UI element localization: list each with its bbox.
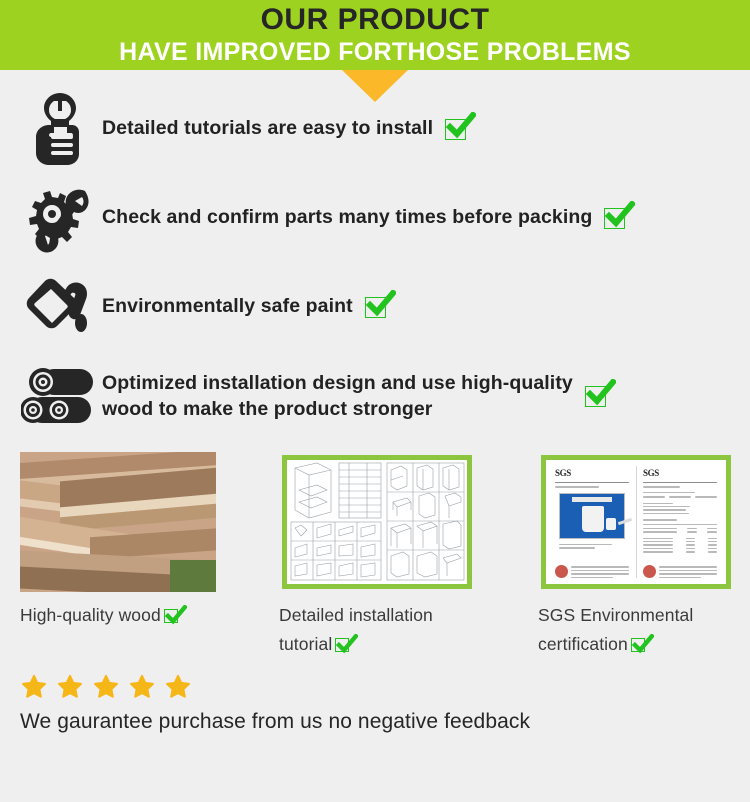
gear-wrench-icon	[18, 183, 102, 253]
checkmark-icon	[604, 206, 627, 229]
guarantee-text: We gaurantee purchase from us no negativ…	[20, 705, 750, 739]
feature-text-2: Check and confirm parts many times befor…	[102, 205, 627, 230]
caption-text-2-line1: Detailed installation	[279, 605, 433, 625]
checkmark-icon	[585, 384, 608, 407]
hand-wrench-icon	[18, 91, 102, 167]
card-caption-1: High-quality wood	[20, 601, 216, 630]
guarantee-section: We gaurantee purchase from us no negativ…	[0, 659, 750, 739]
feature-list: Detailed tutorials are easy to install C…	[0, 70, 750, 440]
header-banner: OUR PRODUCT HAVE IMPROVED FORTHOSE PROBL…	[0, 0, 750, 70]
card-gallery: High-quality wood	[0, 440, 750, 659]
feature-label-4-line1: Optimized installation design and use hi…	[102, 372, 573, 394]
feature-label-4-line2: wood to make the product stronger	[102, 398, 433, 420]
checkmark-icon	[631, 637, 648, 652]
seal-icon	[643, 565, 656, 578]
star-rating	[20, 673, 750, 701]
star-icon	[92, 673, 120, 701]
product-feature-graphic: OUR PRODUCT HAVE IMPROVED FORTHOSE PROBL…	[0, 0, 750, 802]
sgs-test-report-photo: SGS	[538, 452, 734, 592]
caption-text-1: High-quality wood	[20, 605, 161, 625]
star-icon	[164, 673, 192, 701]
wood-logs-icon	[18, 367, 102, 425]
star-icon	[128, 673, 156, 701]
card-high-quality-wood: High-quality wood	[20, 452, 216, 659]
high-quality-wood-photo	[20, 452, 216, 592]
feature-text-4: Optimized installation design and use hi…	[102, 370, 608, 422]
card-caption-2: Detailed installation tutorial	[279, 601, 475, 659]
paint-bucket-icon	[18, 275, 102, 339]
card-installation-tutorial: Detailed installation tutorial	[279, 452, 475, 659]
feature-label-2: Check and confirm parts many times befor…	[102, 205, 592, 230]
seal-icon	[555, 565, 568, 578]
caption-text-3-line2: certification	[538, 634, 628, 654]
card-sgs-certification: SGS	[538, 452, 734, 659]
checkmark-icon	[445, 117, 468, 140]
page-title: OUR PRODUCT	[0, 0, 750, 37]
feature-row-4: Optimized installation design and use hi…	[0, 351, 750, 440]
sgs-logo-left: SGS	[555, 468, 634, 478]
checkmark-icon	[365, 295, 388, 318]
down-arrow-icon	[342, 70, 408, 102]
feature-label-3: Environmentally safe paint	[102, 294, 353, 319]
installation-diagram-sheet	[279, 452, 475, 592]
page-subtitle: HAVE IMPROVED FORTHOSE PROBLEMS	[0, 37, 750, 67]
caption-text-3-line1: SGS Environmental	[538, 605, 693, 625]
checkmark-icon	[335, 637, 352, 652]
star-icon	[56, 673, 84, 701]
feature-row-3: Environmentally safe paint	[0, 262, 750, 351]
star-icon	[20, 673, 48, 701]
sgs-logo-right: SGS	[643, 468, 722, 478]
feature-label-1: Detailed tutorials are easy to install	[102, 116, 433, 141]
feature-text-1: Detailed tutorials are easy to install	[102, 116, 468, 141]
caption-text-2-line2: tutorial	[279, 634, 332, 654]
card-caption-3: SGS Environmental certification	[538, 601, 734, 659]
checkmark-icon	[164, 608, 181, 623]
feature-text-3: Environmentally safe paint	[102, 294, 388, 319]
feature-row-2: Check and confirm parts many times befor…	[0, 173, 750, 262]
